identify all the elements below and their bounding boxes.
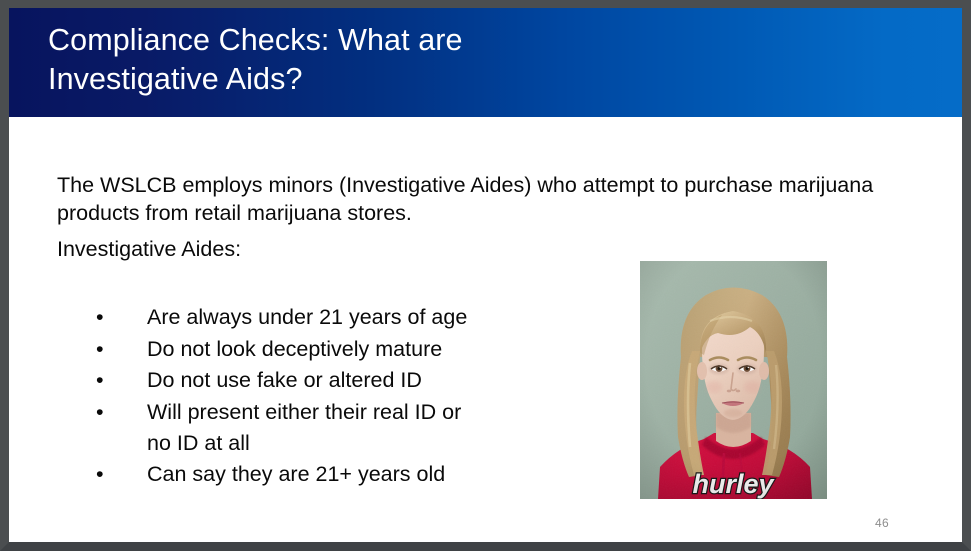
subheading: Investigative Aides: [57, 235, 241, 263]
list-item-label: Do not use fake or altered ID [147, 365, 577, 396]
list-item: • Will present either their real ID or n… [57, 397, 577, 459]
bullet-dot-icon: • [96, 397, 104, 428]
list-item: • Do not use fake or altered ID [57, 365, 577, 396]
slide-title: Compliance Checks: What are Investigativ… [48, 21, 748, 99]
portrait-photo: hurley [640, 261, 827, 499]
page-number: 46 [875, 516, 889, 530]
slide-canvas: Compliance Checks: What are Investigativ… [9, 8, 962, 542]
bullet-list: • Are always under 21 years of age • Do … [57, 302, 577, 491]
title-banner: Compliance Checks: What are Investigativ… [9, 8, 962, 117]
bullet-dot-icon: • [96, 365, 104, 396]
intro-paragraph: The WSLCB employs minors (Investigative … [57, 171, 877, 227]
slide-frame: Compliance Checks: What are Investigativ… [0, 0, 971, 551]
list-item-label: Will present either their real ID or no … [147, 397, 577, 459]
bullet-dot-icon: • [96, 334, 104, 365]
list-item: • Can say they are 21+ years old [57, 459, 577, 490]
list-item-label: Can say they are 21+ years old [147, 459, 577, 490]
bullet-dot-icon: • [96, 459, 104, 490]
list-item-label: Do not look deceptively mature [147, 334, 577, 365]
list-item-label: Are always under 21 years of age [147, 302, 577, 333]
bullet-dot-icon: • [96, 302, 104, 333]
list-item: • Do not look deceptively mature [57, 334, 577, 365]
portrait-illustration: hurley [640, 261, 827, 499]
list-item: • Are always under 21 years of age [57, 302, 577, 333]
